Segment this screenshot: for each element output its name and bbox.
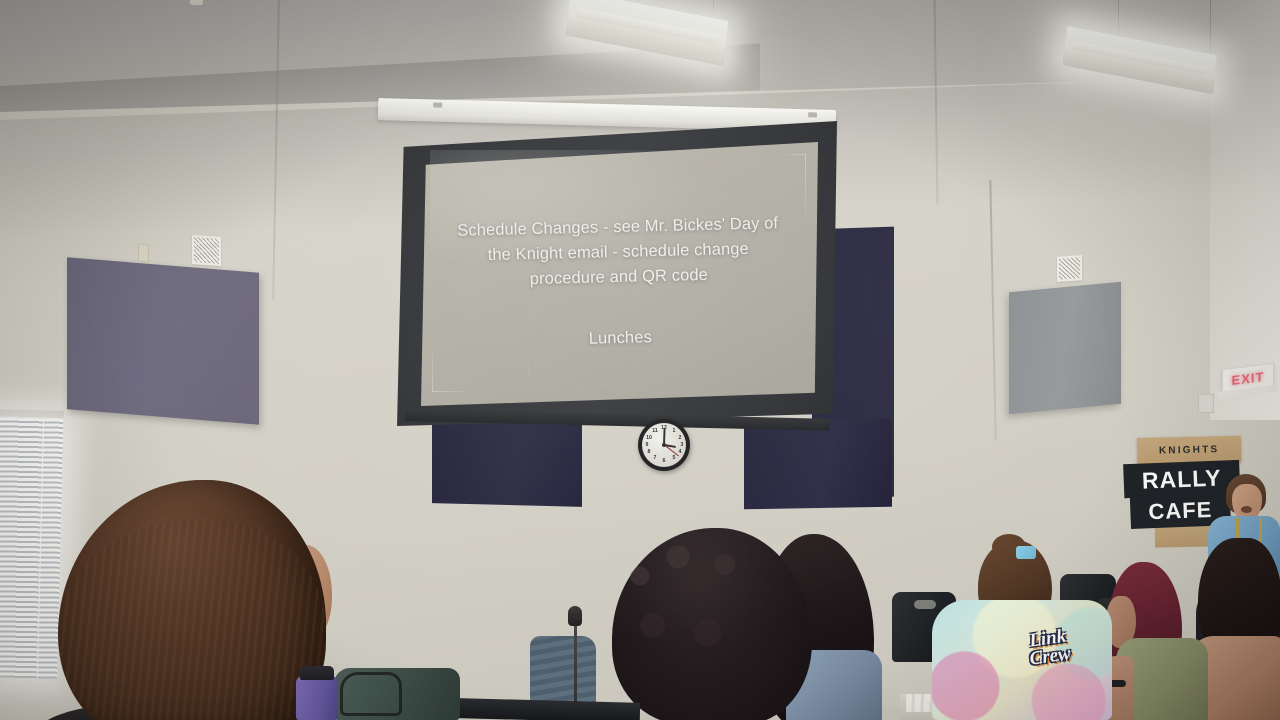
ceiling-mount-stud [190, 0, 203, 5]
water-bottle-cap[interactable] [300, 666, 334, 680]
chair-backrest-slot [914, 600, 936, 609]
clock-numeral-6: 6 [660, 459, 668, 464]
light-suspension-wire [1210, 0, 1211, 56]
wall-corner-highlight [1210, 0, 1280, 420]
light-suspension-wire [713, 0, 714, 12]
clock-numeral-11: 11 [651, 429, 659, 434]
housing-bracket [433, 102, 442, 107]
clock-numeral-9: 9 [643, 443, 651, 448]
microphone-icon[interactable] [568, 606, 582, 626]
housing-bracket [808, 112, 817, 117]
backpack-strap [340, 672, 402, 716]
hair-clip [1016, 546, 1036, 559]
wall-plate[interactable] [138, 244, 149, 263]
air-vent-grille [192, 235, 221, 266]
sign-knights-label: KNIGHTS [1159, 444, 1220, 456]
clock-numeral-2: 2 [676, 436, 684, 441]
clock-center-hub [662, 443, 666, 447]
sign-cafe-label: CAFE [1148, 496, 1213, 524]
slide-text-block: Schedule Changes - see Mr. Bickes' Day o… [428, 211, 809, 356]
denim-jacket-on-chair [530, 636, 596, 710]
window-with-blinds [0, 417, 63, 679]
water-bottle[interactable] [296, 676, 338, 720]
wall-clock: 12 1 2 3 4 5 6 7 8 9 10 11 [638, 419, 690, 471]
window-blinds[interactable] [0, 417, 63, 679]
sign-rally-label: RALLY [1141, 464, 1222, 494]
link-crew-logo-line-2: Crew [1029, 645, 1072, 669]
acoustic-panel-navy-left [432, 420, 582, 507]
clock-numeral-10: 10 [645, 436, 653, 441]
clock-numeral-1: 1 [670, 429, 678, 434]
acoustic-panel-purple-left [67, 257, 259, 424]
air-vent-grille [1057, 255, 1082, 282]
clock-numeral-5: 5 [670, 456, 678, 461]
clock-numeral-3: 3 [678, 443, 686, 448]
link-crew-logo: Link Crew [1008, 613, 1090, 683]
clock-numeral-7: 7 [651, 456, 659, 461]
wall-junction-box [1198, 394, 1214, 413]
acoustic-panel-navy-right [744, 419, 892, 510]
classroom-photo: EXIT KNIGHTS RALLY CAFE Schedule Changes… [0, 0, 1280, 720]
acoustic-panel-gray-right [1009, 282, 1121, 415]
standing-staff-mouth [1241, 506, 1252, 513]
clock-numeral-8: 8 [645, 450, 653, 455]
exit-sign-label: EXIT [1232, 368, 1265, 387]
